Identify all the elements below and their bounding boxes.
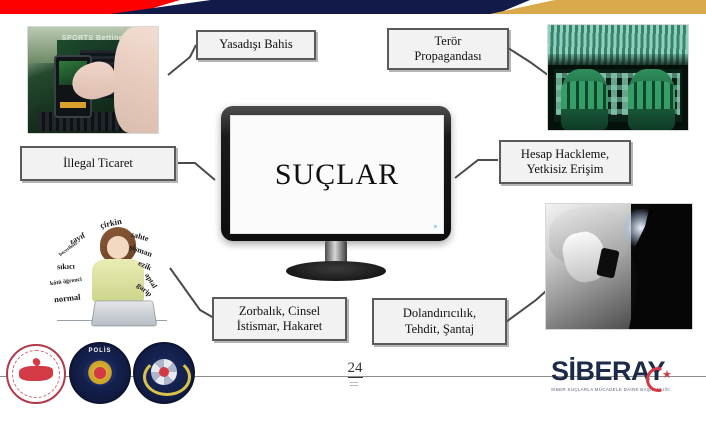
monitor-screen: SUÇLAR bbox=[230, 115, 444, 234]
label-terror-propaganda[interactable]: TerörPropagandası bbox=[387, 28, 509, 70]
siberay-subtitle: SİBER SUÇLARLA MÜCADELE DAİRE BAŞKANLIĞI bbox=[551, 387, 701, 392]
photo-sports-betting: SPORTS Betting Live! bbox=[27, 26, 159, 134]
wordcloud-word: kötü öğrenci bbox=[49, 277, 82, 287]
emblem-police-text: POLİS bbox=[71, 348, 129, 354]
emblem-ministry-of-interior bbox=[6, 344, 66, 404]
siberay-wordmark: SİBERAY bbox=[551, 358, 701, 385]
top-banner bbox=[0, 0, 706, 14]
label-terror-propaganda-text: TerörPropagandası bbox=[414, 34, 481, 65]
page-title: SUÇLAR bbox=[275, 158, 399, 192]
wordcloud-word: beceriksiz bbox=[59, 242, 79, 259]
emblem-cybercrime-department bbox=[133, 342, 195, 404]
label-bullying-abuse[interactable]: Zorbalık, Cinselİstismar, Hakaret bbox=[212, 297, 347, 341]
emblem-turkish-police: POLİS bbox=[69, 342, 131, 404]
siberay-logo: SİBERAY SİBER SUÇLARLA MÜCADELE DAİRE BA… bbox=[551, 358, 701, 392]
label-illegal-trade[interactable]: İllegal Ticaret bbox=[20, 146, 176, 181]
banner-band-navy bbox=[110, 0, 530, 14]
label-bullying-abuse-text: Zorbalık, Cinselİstismar, Hakaret bbox=[237, 304, 323, 335]
connector-betting bbox=[168, 45, 196, 75]
connector-bullying bbox=[170, 268, 214, 318]
photo-hacker-keyboard bbox=[547, 24, 689, 131]
photo-phone-threat bbox=[545, 203, 693, 330]
star-icon: ★ bbox=[662, 370, 672, 381]
wordcloud-word: normal bbox=[54, 292, 81, 305]
monitor-base bbox=[286, 261, 386, 281]
label-illegal-betting[interactable]: Yasadışı Bahis bbox=[196, 30, 316, 60]
connector-terror bbox=[508, 48, 552, 78]
page-number-text: 24 bbox=[348, 360, 363, 378]
illustration-cyberbullying-wordcloud: çirkinsahtezayıfşişmanbeceriksizsıkıcıez… bbox=[52, 216, 172, 328]
connector-illegal-trade bbox=[178, 163, 215, 180]
wordcloud-word: sıkıcı bbox=[57, 262, 75, 272]
label-account-hacking[interactable]: Hesap Hackleme,Yetkisiz Erişim bbox=[499, 140, 631, 184]
page-number-underline-mark: —— bbox=[343, 381, 365, 387]
connector-hacking bbox=[455, 160, 498, 178]
slide-canvas: SPORTS Betting Live! çirkinsahtezayıfşiş… bbox=[0, 0, 706, 431]
label-illegal-trade-text: İllegal Ticaret bbox=[63, 156, 133, 171]
page-number: 24 bbox=[335, 360, 375, 377]
label-illegal-betting-text: Yasadışı Bahis bbox=[219, 37, 292, 52]
label-fraud-threat[interactable]: Dolandırıcılık,Tehdit, Şantaj bbox=[372, 298, 507, 345]
monitor-frame: SUÇLAR bbox=[221, 106, 451, 241]
monitor-led bbox=[434, 225, 437, 228]
label-fraud-threat-text: Dolandırıcılık,Tehdit, Şantaj bbox=[403, 306, 476, 337]
label-account-hacking-text: Hesap Hackleme,Yetkisiz Erişim bbox=[521, 147, 609, 178]
